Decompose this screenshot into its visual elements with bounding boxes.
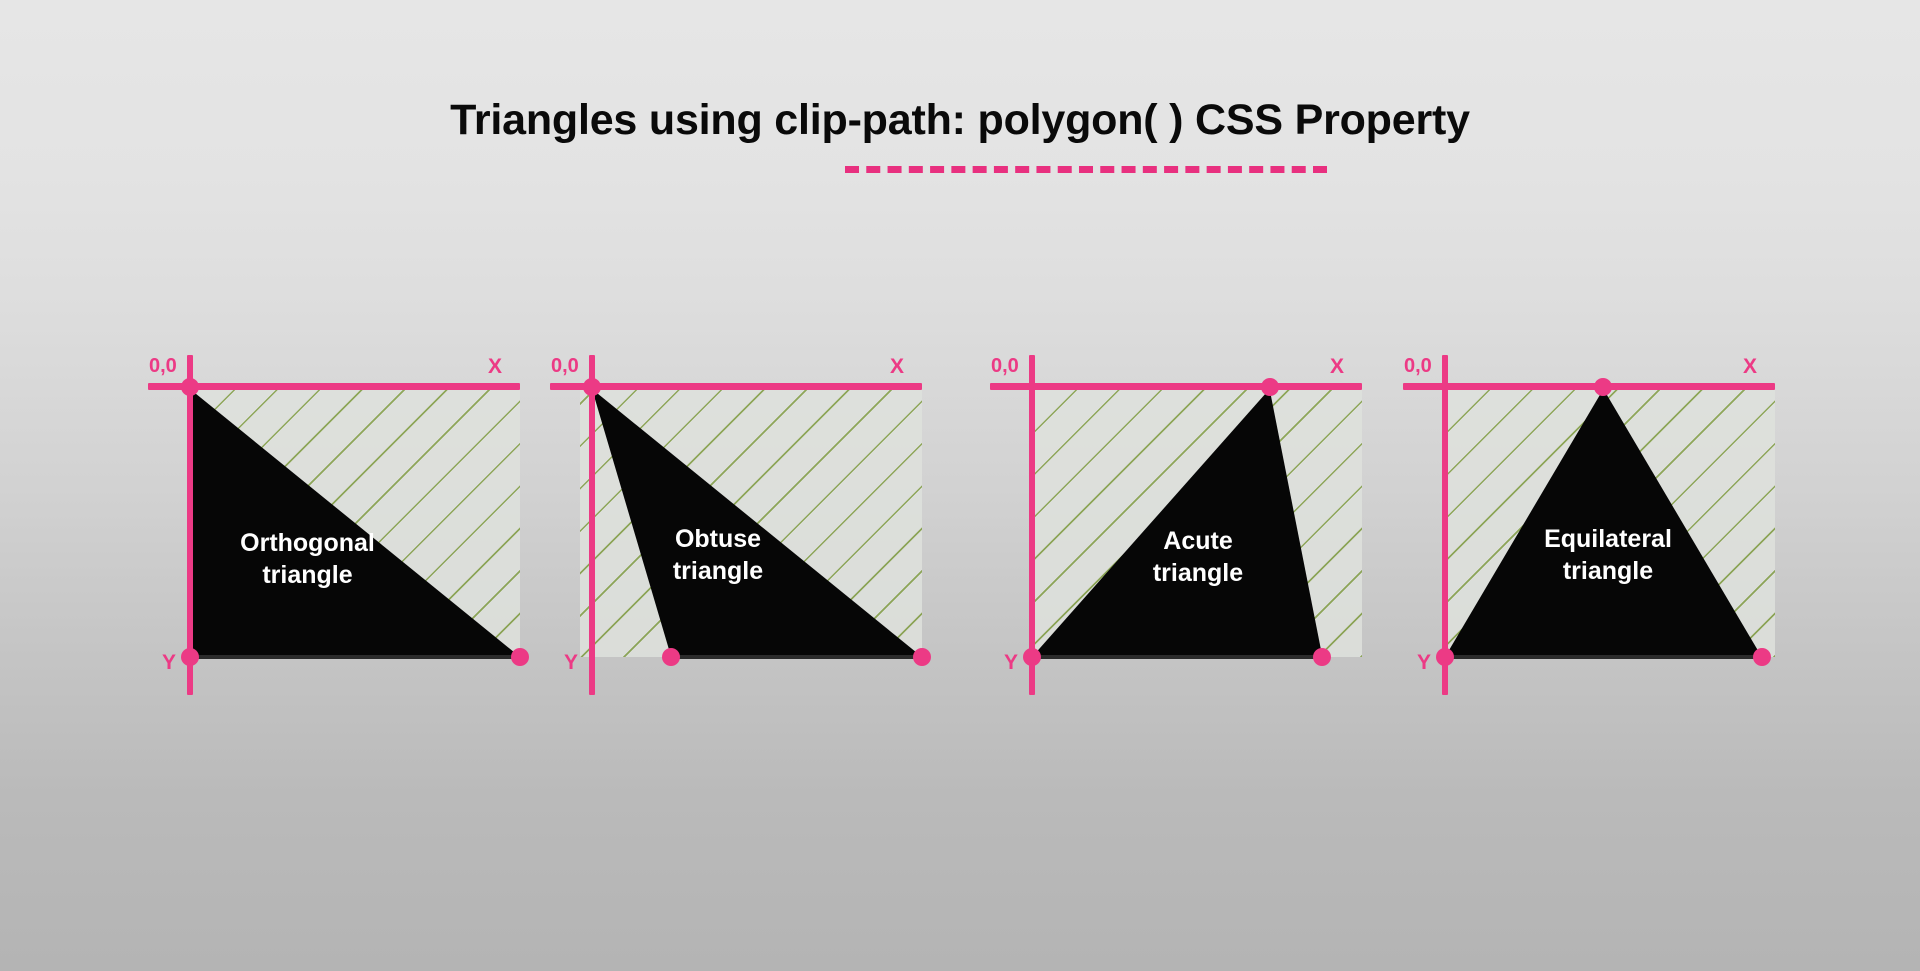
- x-axis-line: [148, 383, 520, 390]
- x-axis-line: [550, 383, 922, 390]
- diagram-obtuse: 0,0 X Y Obtuse triangle: [550, 355, 930, 735]
- vertex-dot: [1594, 378, 1612, 396]
- triangle-baseline: [1445, 655, 1762, 659]
- x-axis-label: X: [488, 355, 502, 379]
- vertex-dot: [1261, 378, 1279, 396]
- page-title-text: Triangles using clip-path: polygon( ) CS…: [450, 96, 1470, 144]
- y-axis-line: [1442, 355, 1448, 695]
- x-axis-label: X: [890, 355, 904, 379]
- y-axis-label: Y: [162, 651, 176, 675]
- vertex-dot: [511, 648, 529, 666]
- x-axis-label: X: [1330, 355, 1344, 379]
- diagram-equilateral: 0,0 X Y Equilateral triangle: [1403, 355, 1783, 735]
- y-axis-line: [1029, 355, 1035, 695]
- title-dashed-underline: [845, 166, 1327, 173]
- x-axis-line: [990, 383, 1362, 390]
- vertex-dot: [1753, 648, 1771, 666]
- x-axis-line: [1403, 383, 1775, 390]
- y-axis-line: [187, 355, 193, 695]
- vertex-dot: [181, 378, 199, 396]
- triangle-baseline: [190, 655, 520, 659]
- vertex-dot: [1023, 648, 1041, 666]
- x-axis-label: X: [1743, 355, 1757, 379]
- y-axis-line: [589, 355, 595, 695]
- y-axis-label: Y: [564, 651, 578, 675]
- origin-label: 0,0: [1404, 355, 1432, 378]
- page-title-wrapper: Triangles using clip-path: polygon( ) CS…: [0, 96, 1920, 145]
- vertex-dot: [181, 648, 199, 666]
- origin-label: 0,0: [149, 355, 177, 378]
- diagram-row: 0,0 X Y Orthogonal triangle 0,0 X Y Obtu…: [0, 355, 1920, 735]
- triangle-baseline: [1032, 655, 1322, 659]
- vertex-dot: [913, 648, 931, 666]
- y-axis-label: Y: [1417, 651, 1431, 675]
- origin-label: 0,0: [991, 355, 1019, 378]
- y-axis-label: Y: [1004, 651, 1018, 675]
- page-title: Triangles using clip-path: polygon( ) CS…: [450, 96, 1470, 145]
- diagram-orthogonal: 0,0 X Y Orthogonal triangle: [148, 355, 528, 735]
- vertex-dot: [662, 648, 680, 666]
- diagram-acute: 0,0 X Y Acute triangle: [990, 355, 1370, 735]
- vertex-dot: [1313, 648, 1331, 666]
- vertex-dot: [1436, 648, 1454, 666]
- origin-label: 0,0: [551, 355, 579, 378]
- vertex-dot: [583, 378, 601, 396]
- triangle-baseline: [671, 655, 922, 659]
